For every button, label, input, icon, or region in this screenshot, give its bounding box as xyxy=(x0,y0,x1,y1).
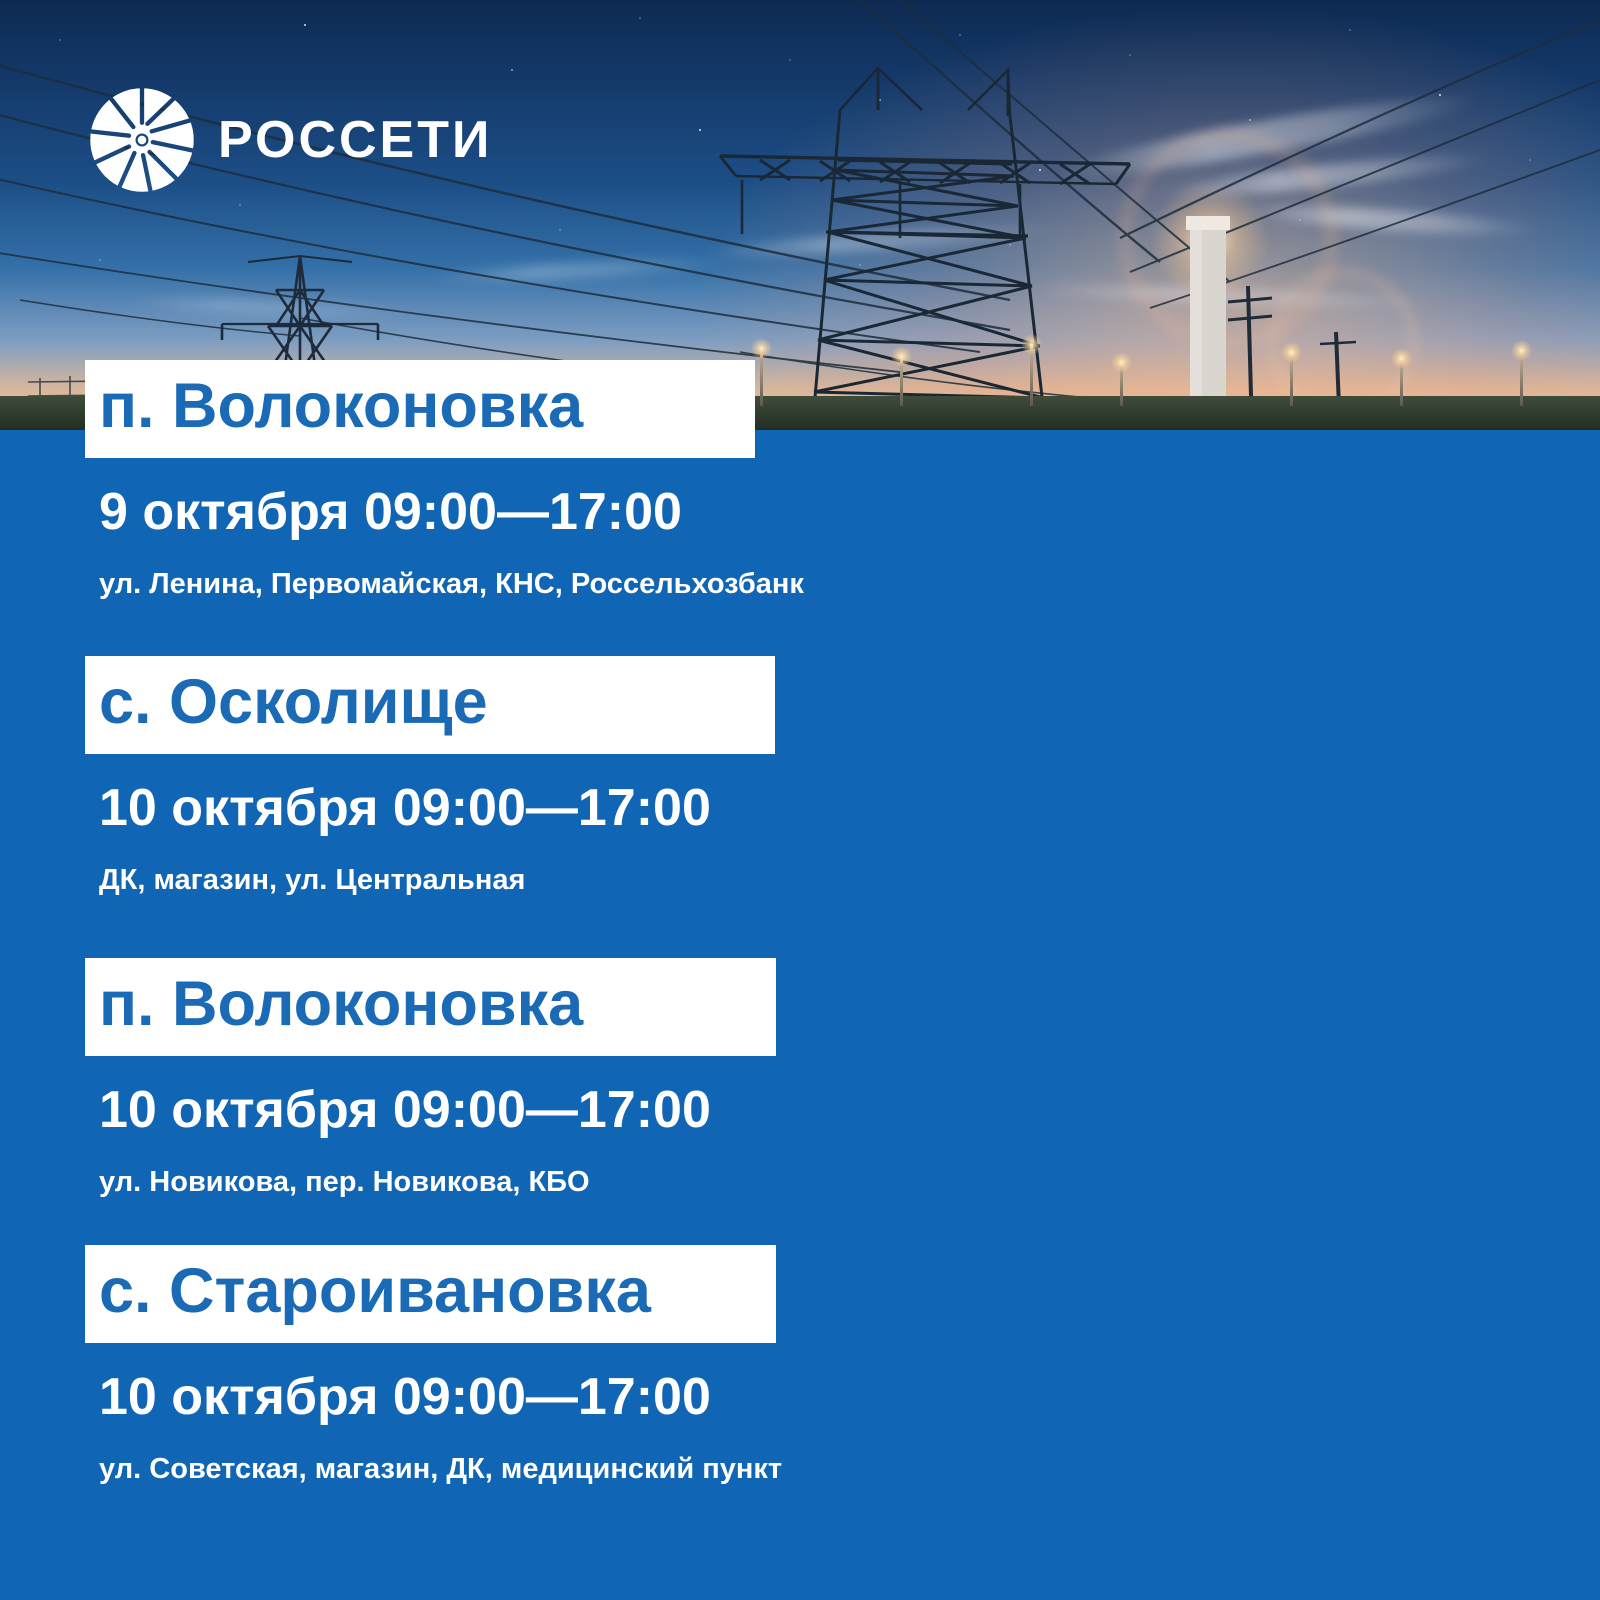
place-name: п. Волоконовка xyxy=(99,374,729,438)
place-name: с. Осколище xyxy=(99,670,749,734)
outage-address: ул. Ленина, Первомайская, КНС, Россельхо… xyxy=(99,568,1515,601)
brand-name: РОССЕТИ xyxy=(218,114,492,166)
outage-entry: п. Волоконовка 9 октября 09:00—17:00 ул.… xyxy=(85,360,1515,602)
place-banner: с. Осколище xyxy=(85,656,775,754)
rosseti-logo[interactable]: РОССЕТИ xyxy=(88,86,492,194)
outage-datetime: 10 октября 09:00—17:00 xyxy=(99,782,1515,834)
outage-address: ул. Новикова, пер. Новикова, КБО xyxy=(99,1166,1515,1199)
rosseti-fan-icon xyxy=(88,86,196,194)
place-name: с. Староивановка xyxy=(99,1259,750,1323)
outage-entry: с. Осколище 10 октября 09:00—17:00 ДК, м… xyxy=(85,656,1515,898)
place-banner: п. Волоконовка xyxy=(85,958,776,1056)
outage-entry: с. Староивановка 10 октября 09:00—17:00 … xyxy=(85,1245,1515,1487)
outage-datetime: 10 октября 09:00—17:00 xyxy=(99,1084,1515,1136)
outage-address: ул. Советская, магазин, ДК, медицинский … xyxy=(99,1453,1515,1486)
outage-entry: п. Волоконовка 10 октября 09:00—17:00 ул… xyxy=(85,958,1515,1200)
outage-datetime: 10 октября 09:00—17:00 xyxy=(99,1371,1515,1423)
place-banner: п. Волоконовка xyxy=(85,360,755,458)
outage-datetime: 9 октября 09:00—17:00 xyxy=(99,486,1515,538)
place-banner: с. Староивановка xyxy=(85,1245,776,1343)
place-name: п. Волоконовка xyxy=(99,972,750,1036)
outage-list: п. Волоконовка 9 октября 09:00—17:00 ул.… xyxy=(0,0,1600,1600)
outage-address: ДК, магазин, ул. Центральная xyxy=(99,864,1515,897)
